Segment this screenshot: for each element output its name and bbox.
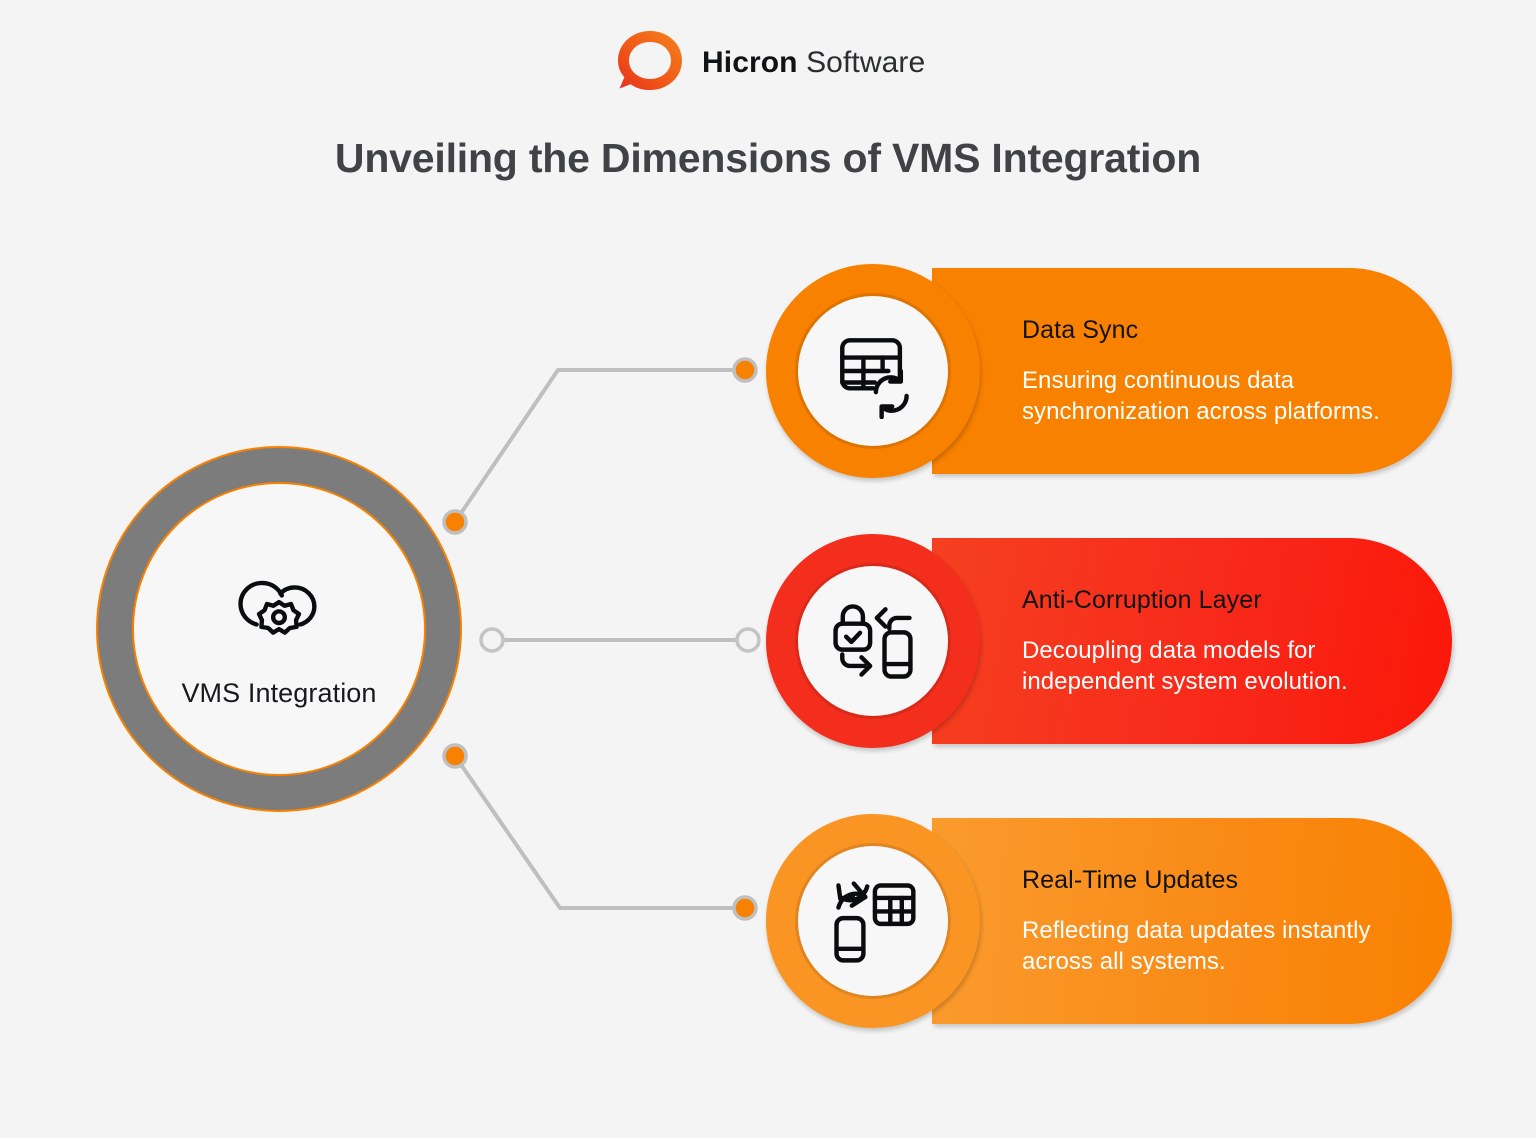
hub-inner-disc: VMS Integration: [132, 482, 426, 776]
card-data-sync-text: Data Sync Ensuring continuous data synch…: [1022, 268, 1422, 474]
card-anti-corruption-layer-badge-core: [798, 566, 948, 716]
card-data-sync-title: Data Sync: [1022, 316, 1422, 345]
brand-name-bold: Hicron: [702, 46, 798, 79]
brand-name-light: Software: [806, 46, 925, 79]
hub-node-vms-integration[interactable]: VMS Integration: [96, 446, 462, 812]
card-real-time-updates-title: Real-Time Updates: [1022, 866, 1422, 895]
card-data-sync-badge[interactable]: [766, 264, 980, 478]
card-data-sync-badge-core: [798, 296, 948, 446]
device-table-transfer-icon: [825, 873, 921, 969]
infographic-canvas: Hicron Software Unveiling the Dimensions…: [0, 0, 1536, 1138]
brand-name: Hicron Software: [702, 46, 925, 80]
card-real-time-updates-text: Real-Time Updates Reflecting data update…: [1022, 818, 1422, 1024]
brand-logo: Hicron Software: [612, 25, 925, 101]
hicron-speech-bubble-ring-icon: [612, 25, 688, 101]
connector-dot-data-sync: [734, 359, 756, 381]
table-sync-icon: [825, 323, 921, 419]
card-data-sync-pill[interactable]: Data Sync Ensuring continuous data synch…: [932, 268, 1452, 474]
card-anti-corruption-layer-title: Anti-Corruption Layer: [1022, 586, 1422, 615]
connector-dot-hub-middle: [481, 629, 503, 651]
card-data-sync-description: Ensuring continuous data synchronization…: [1022, 365, 1422, 427]
card-real-time-updates-badge[interactable]: [766, 814, 980, 1028]
hub-label: VMS Integration: [181, 678, 376, 709]
card-real-time-updates-pill[interactable]: Real-Time Updates Reflecting data update…: [932, 818, 1452, 1024]
card-real-time-updates[interactable]: Real-Time Updates Reflecting data update…: [766, 814, 1466, 1030]
cloud-gear-icon: [227, 560, 331, 664]
lock-device-exchange-icon: [825, 593, 921, 689]
card-real-time-updates-description: Reflecting data updates instantly across…: [1022, 915, 1422, 977]
connector-dot-anti-corruption-layer: [737, 629, 759, 651]
card-anti-corruption-layer[interactable]: Anti-Corruption Layer Decoupling data mo…: [766, 534, 1466, 750]
connector-to-real-time-updates-line: [455, 756, 745, 908]
card-anti-corruption-layer-text: Anti-Corruption Layer Decoupling data mo…: [1022, 538, 1422, 744]
connector-dot-real-time-updates: [734, 897, 756, 919]
page-title: Unveiling the Dimensions of VMS Integrat…: [0, 135, 1536, 182]
card-anti-corruption-layer-badge[interactable]: [766, 534, 980, 748]
connector-to-data-sync-line: [455, 370, 745, 522]
card-anti-corruption-layer-description: Decoupling data models for independent s…: [1022, 635, 1422, 697]
card-real-time-updates-badge-core: [798, 846, 948, 996]
card-data-sync[interactable]: Data Sync Ensuring continuous data synch…: [766, 264, 1466, 480]
card-anti-corruption-layer-pill[interactable]: Anti-Corruption Layer Decoupling data mo…: [932, 538, 1452, 744]
